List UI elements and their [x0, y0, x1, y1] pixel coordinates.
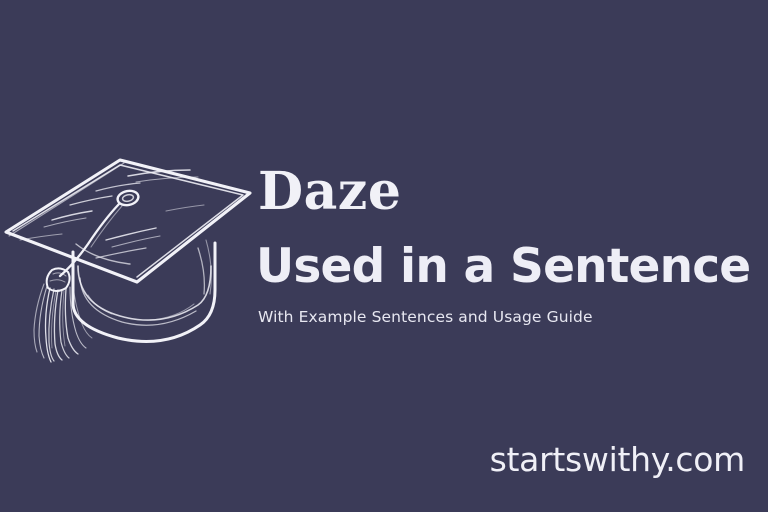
site-watermark: startswithy.com	[490, 443, 745, 476]
subtitle: With Example Sentences and Usage Guide	[258, 310, 593, 326]
page-title: Daze	[258, 166, 401, 218]
headline: Used in a Sentence	[256, 243, 750, 290]
graduation-cap-icon	[0, 148, 250, 363]
promo-card: Daze Used in a Sentence With Example Sen…	[0, 0, 768, 512]
